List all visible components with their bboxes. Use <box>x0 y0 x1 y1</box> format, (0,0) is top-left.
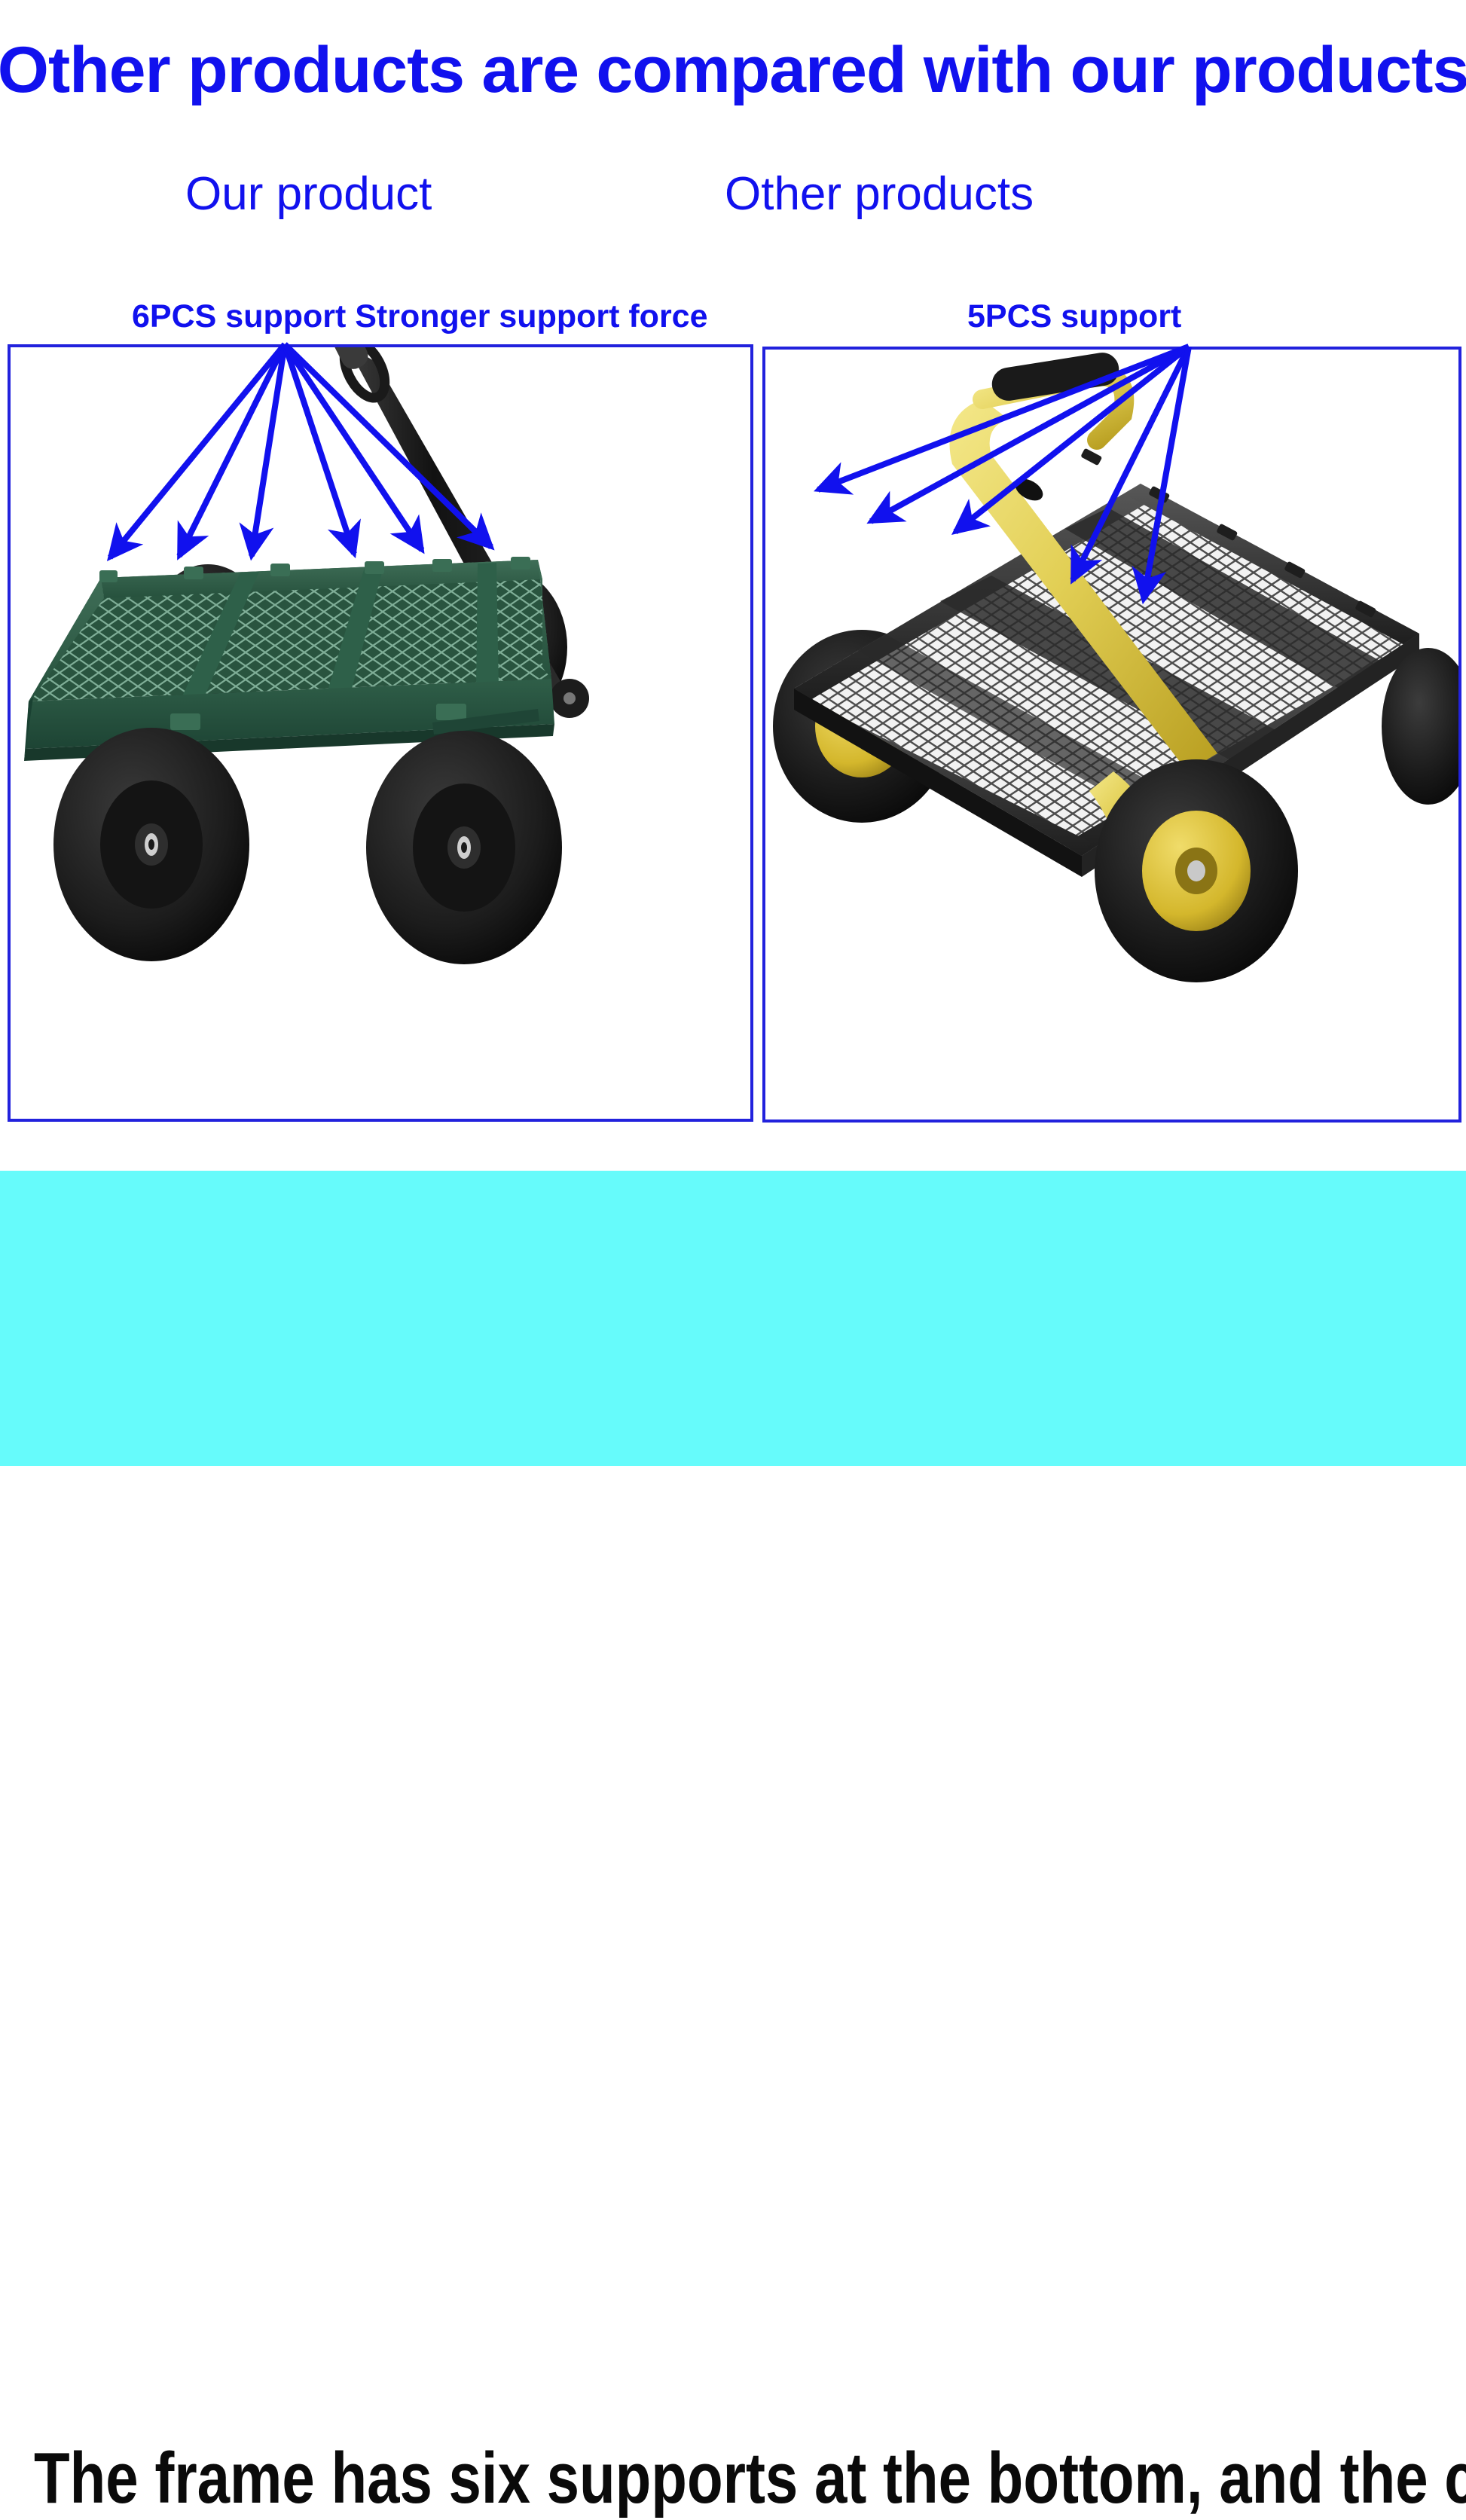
cart-bed <box>24 557 554 761</box>
left-support-caption: 6PCS support Stronger support force <box>132 298 708 335</box>
our-product-heading: Our product <box>185 167 432 221</box>
other-products-heading: Other products <box>725 167 1034 221</box>
page-title: Other products are compared with our pro… <box>0 33 1466 108</box>
front-wheels <box>53 728 562 964</box>
our-green-cart-image <box>11 347 753 1122</box>
right-support-caption: 5PCS support <box>967 298 1181 335</box>
other-yellow-cart-image <box>765 350 1461 1123</box>
our-product-panel <box>8 344 753 1122</box>
bottom-banner-text: The frame has six supports at the bottom… <box>34 2436 1435 2520</box>
bottom-banner: The frame has six supports at the bottom… <box>0 1171 1466 1466</box>
other-product-panel <box>762 347 1461 1123</box>
